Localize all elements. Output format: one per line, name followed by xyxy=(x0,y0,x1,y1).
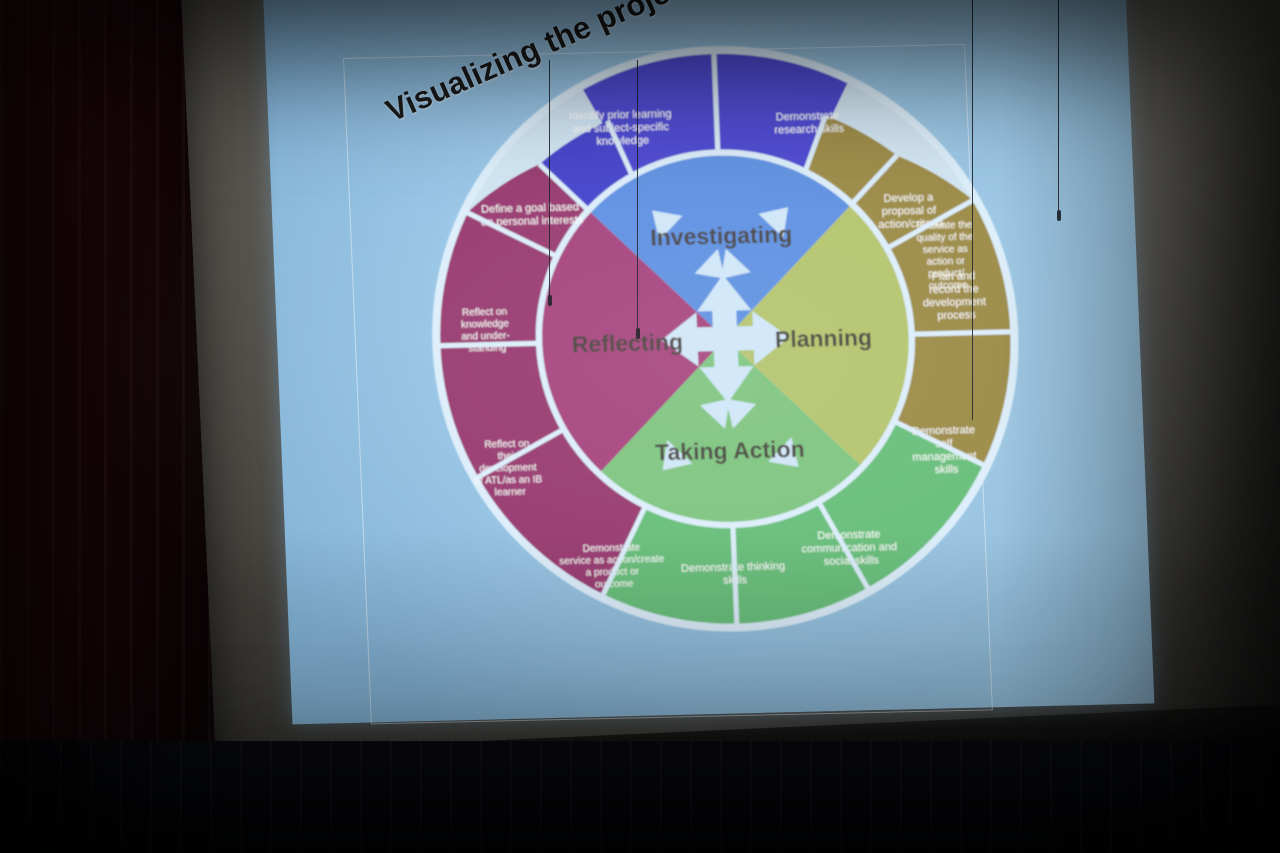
project-objectives-wheel: Investigating Planning Taking Action Ref… xyxy=(413,32,1037,646)
stage-curtain-left xyxy=(0,0,210,790)
slide-content: Visualizing the project objectives xyxy=(263,0,1154,724)
quadrant-label-reflecting: Reflecting xyxy=(571,329,683,358)
hanging-mic-cable-4 xyxy=(549,60,550,297)
photo-scene: Visualizing the project objectives xyxy=(0,0,1280,853)
stage-skirt xyxy=(0,741,1280,853)
svg-text:Reflect on knowl: Reflect on knowledge and under- standing xyxy=(460,307,513,355)
quadrant-label-investigating: Investigating xyxy=(650,221,793,250)
quadrant-label-planning: Planning xyxy=(774,324,872,352)
quadrant-label-taking-action: Taking Action xyxy=(655,436,806,466)
hanging-mic-cable-3 xyxy=(637,60,638,330)
hanging-mic-cable-2 xyxy=(972,0,973,420)
wheel-svg: Investigating Planning Taking Action Ref… xyxy=(413,32,1037,646)
svg-text:Demonstrate rese: Demonstrate research skills xyxy=(774,110,845,137)
hanging-mic-cable-1 xyxy=(1058,0,1059,212)
